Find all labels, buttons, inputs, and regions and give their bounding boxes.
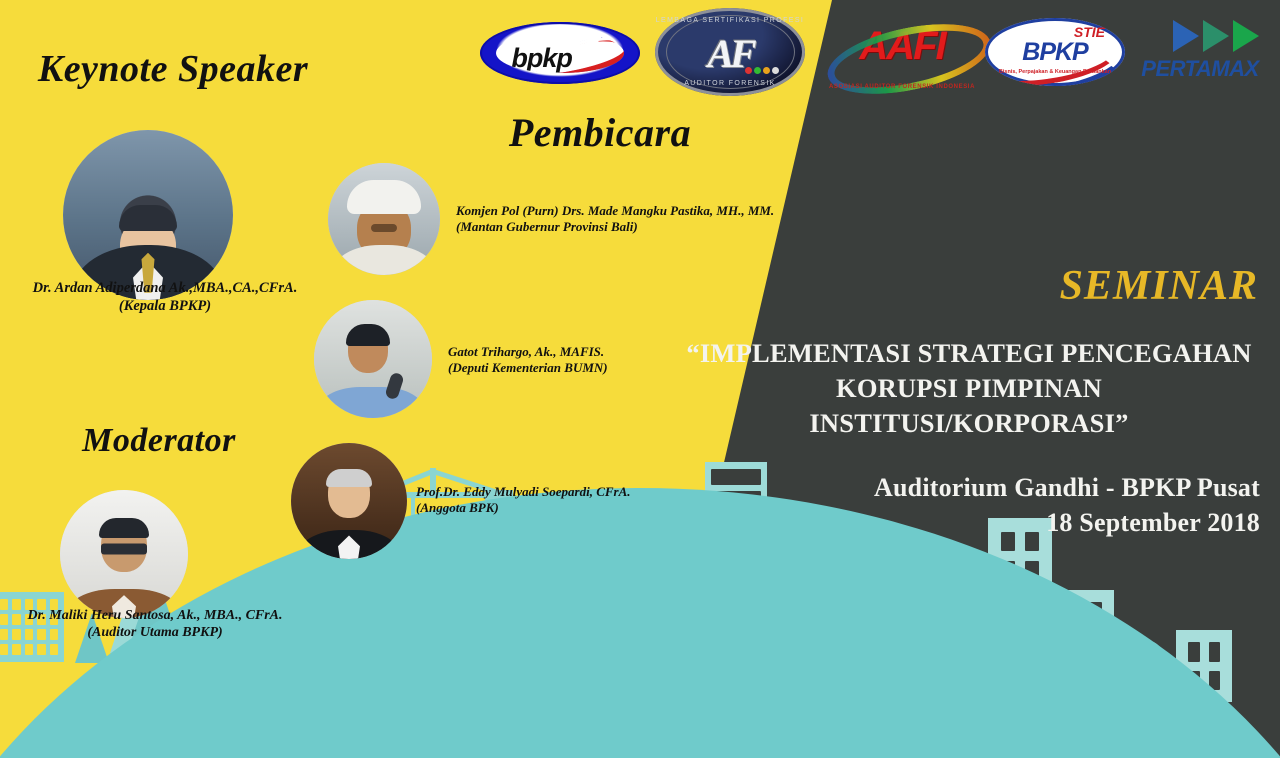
af-arc-bottom-text: AUDITOR FORENSIK (655, 80, 805, 87)
speaker-1-portrait (328, 163, 440, 275)
aafi-tagline: ASOSIASI AUDITOR FORENSIK INDONESIA (822, 84, 982, 90)
stie-bpkp-logo: STIE BPKP Bisnis, Perpajakan & Keuangan … (985, 18, 1125, 86)
seminar-title: “IMPLEMENTASI STRATEGI PENCEGAHAN KORUPS… (674, 336, 1264, 441)
speaker-1-role: (Mantan Gubernur Provinsi Bali) (456, 219, 786, 235)
building (558, 590, 604, 658)
pertamax-arrows-icon (1173, 20, 1259, 52)
keynote-role: (Kepala BPKP) (0, 298, 330, 316)
moderator-name: Dr. Maliki Heru Santosa, Ak., MBA., CFrA… (27, 608, 282, 623)
moderator-portrait (60, 490, 188, 618)
af-monogram: AF (655, 30, 805, 77)
speaker-3-name: Prof.Dr. Eddy Mulyadi Soepardi, CFrA. (416, 484, 631, 499)
seminar-title-line-1: “IMPLEMENTASI STRATEGI PENCEGAHAN (686, 338, 1251, 368)
speaker-1-name: Komjen Pol (Purn) Drs. Made Mangku Pasti… (456, 203, 774, 218)
stie-tagline: Bisnis, Perpajakan & Keuangan Perbankan (985, 69, 1125, 75)
seminar-label: SEMINAR (1060, 262, 1258, 310)
event-venue: Auditorium Gandhi - BPKP Pusat (874, 473, 1260, 503)
speaker-3-caption: Prof.Dr. Eddy Mulyadi Soepardi, CFrA. (A… (416, 484, 716, 516)
pembicara-heading: Pembicara (455, 113, 745, 153)
keynote-portrait (63, 130, 233, 300)
speaker-2-portrait (314, 300, 432, 418)
keynote-name: Dr. Ardan Adiperdana Ak.,MBA.,CA.,CFrA. (33, 280, 298, 296)
bpkp-wordmark: bpkp (511, 43, 572, 73)
moderator-heading: Moderator (24, 424, 294, 458)
building (606, 562, 656, 654)
keynote-speaker-heading: Keynote Speaker (18, 50, 328, 88)
bpkp-logo: bpkp (480, 22, 640, 84)
moderator-caption: Dr. Maliki Heru Santosa, Ak., MBA., CFrA… (0, 607, 310, 641)
pertamax-wordmark: PERTAMAX (1135, 56, 1265, 82)
keynote-caption: Dr. Ardan Adiperdana Ak.,MBA.,CA.,CFrA. … (0, 280, 330, 315)
event-date: 18 September 2018 (1046, 508, 1260, 538)
af-color-dots (745, 67, 779, 74)
af-arc-top-text: LEMBAGA SERTIFIKASI PROFESI (655, 17, 805, 24)
seminar-title-line-2: KORUPSI PIMPINAN INSTITUSI/KORPORASI” (809, 373, 1128, 438)
speaker-3-portrait (291, 443, 407, 559)
moderator-role: (Auditor Utama BPKP) (0, 624, 310, 641)
speaker-2-name: Gatot Trihargo, Ak., MAFIS. (448, 344, 604, 359)
pertamax-logo: PERTAMAX (1135, 20, 1265, 90)
speaker-3-role: (Anggota BPK) (416, 500, 716, 516)
seminar-poster: bpkp LEMBAGA SERTIFIKASI PROFESI AF AUDI… (0, 0, 1280, 758)
speaker-1-caption: Komjen Pol (Purn) Drs. Made Mangku Pasti… (456, 203, 786, 235)
stie-wordmark: BPKP (985, 38, 1125, 67)
af-logo: LEMBAGA SERTIFIKASI PROFESI AF AUDITOR F… (655, 8, 805, 96)
aafi-logo: AAFI ASOSIASI AUDITOR FORENSIK INDONESIA (822, 18, 982, 90)
